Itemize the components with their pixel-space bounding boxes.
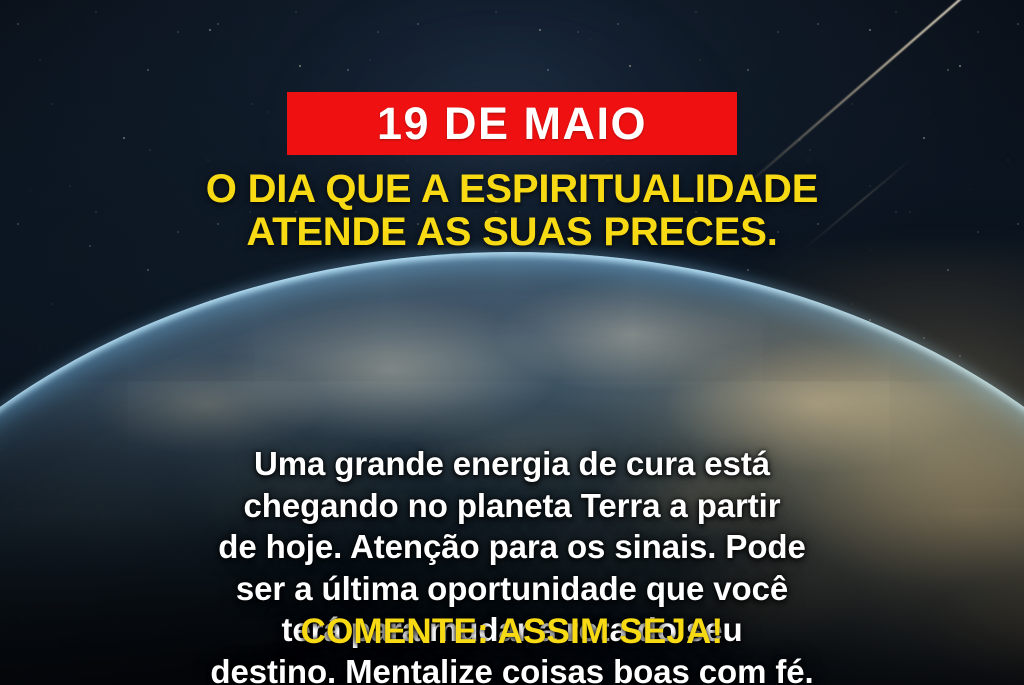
body-line: ser a última oportunidade que você bbox=[52, 568, 972, 610]
headline-line-2: ATENDE AS SUAS PRECES. bbox=[62, 211, 962, 254]
body-line: destino. Mentalize coisas boas com fé. bbox=[52, 651, 972, 685]
body-line: de hoje. Atenção para os sinais. Pode bbox=[52, 526, 972, 568]
body-line: Uma grande energia de cura está bbox=[52, 443, 972, 485]
headline: O DIA QUE A ESPIRITUALIDADE ATENDE AS SU… bbox=[62, 168, 962, 254]
date-banner-label: 19 DE MAIO bbox=[377, 101, 647, 146]
body-line: chegando no planeta Terra a partir bbox=[52, 485, 972, 527]
call-to-action-text: COMENTE: ASSIM SEJA! bbox=[42, 612, 982, 652]
date-banner: 19 DE MAIO bbox=[287, 92, 737, 155]
poster-canvas: 19 DE MAIO O DIA QUE A ESPIRITUALIDADE A… bbox=[0, 0, 1024, 685]
headline-line-1: O DIA QUE A ESPIRITUALIDADE bbox=[62, 168, 962, 211]
poster-content: 19 DE MAIO O DIA QUE A ESPIRITUALIDADE A… bbox=[0, 0, 1024, 685]
